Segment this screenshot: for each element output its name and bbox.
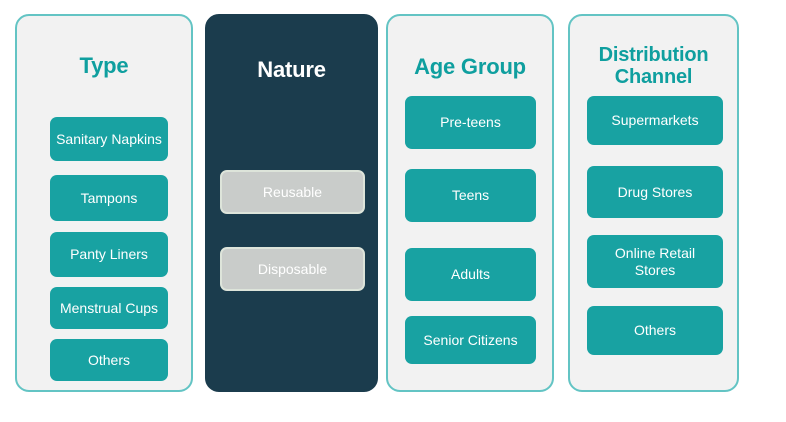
chip-tampons[interactable]: Tampons (50, 175, 168, 221)
segmentation-diagram: Type Sanitary Napkins Tampons Panty Line… (0, 0, 786, 422)
panel-distribution-channel: Distribution Channel Supermarkets Drug S… (568, 14, 739, 392)
chip-adults[interactable]: Adults (405, 248, 536, 301)
chip-label: Sanitary Napkins (56, 131, 162, 147)
chip-label: Others (634, 322, 676, 338)
panel-type: Type Sanitary Napkins Tampons Panty Line… (15, 14, 193, 392)
chip-label: Tampons (81, 190, 138, 206)
chip-label: Teens (452, 187, 489, 203)
chip-reusable[interactable]: Reusable (220, 170, 365, 214)
chip-label: Others (88, 352, 130, 368)
chip-label: Senior Citizens (423, 332, 517, 348)
panel-title-distribution-channel: Distribution Channel (570, 44, 737, 89)
chip-supermarkets[interactable]: Supermarkets (587, 96, 723, 145)
chip-label: Adults (451, 266, 490, 282)
panel-title-type: Type (80, 54, 129, 79)
chip-label: Supermarkets (611, 112, 698, 128)
chip-drug-stores[interactable]: Drug Stores (587, 166, 723, 218)
chip-label: Disposable (258, 261, 327, 277)
panel-nature: Nature Reusable Disposable (205, 14, 378, 392)
chip-label: Panty Liners (70, 246, 148, 262)
chip-others-type[interactable]: Others (50, 339, 168, 381)
panel-title-age-group: Age Group (414, 55, 526, 80)
panel-age-group: Age Group Pre-teens Teens Adults Senior … (386, 14, 554, 392)
chip-label: Reusable (263, 184, 322, 200)
chip-menstrual-cups[interactable]: Menstrual Cups (50, 287, 168, 329)
chip-others-distribution[interactable]: Others (587, 306, 723, 355)
chip-label: Menstrual Cups (60, 300, 158, 316)
chip-pre-teens[interactable]: Pre-teens (405, 96, 536, 149)
chip-label: Online Retail Stores (597, 245, 713, 277)
chip-label: Drug Stores (618, 184, 693, 200)
chip-sanitary-napkins[interactable]: Sanitary Napkins (50, 117, 168, 161)
chip-senior-citizens[interactable]: Senior Citizens (405, 316, 536, 364)
chip-teens[interactable]: Teens (405, 169, 536, 222)
chip-label: Pre-teens (440, 114, 501, 130)
chip-panty-liners[interactable]: Panty Liners (50, 232, 168, 277)
chip-disposable[interactable]: Disposable (220, 247, 365, 291)
chip-online-retail-stores[interactable]: Online Retail Stores (587, 235, 723, 288)
panel-title-nature: Nature (257, 58, 326, 83)
